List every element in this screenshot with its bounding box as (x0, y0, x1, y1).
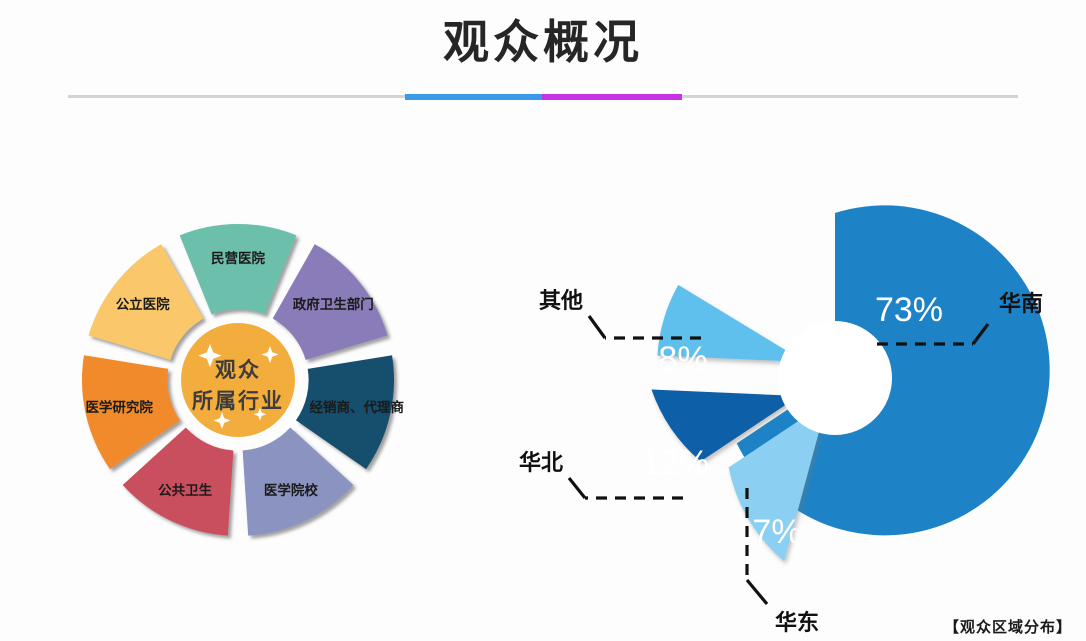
region-value-huabei: 12% (641, 444, 709, 482)
industry-sector-2-label: 经销商、代理商 (310, 399, 405, 416)
divider-accent-blue (405, 94, 542, 100)
industry-sector-0-shape[interactable] (180, 224, 297, 315)
industry-center-line1: 观众 (215, 358, 261, 382)
region-label-huadong: 华东 (775, 610, 819, 636)
region-donut-chart[interactable]: 73% 12% 8% 7% 华南 华北 其他 华东 (505, 148, 1081, 641)
industry-donut-chart[interactable]: 民营医院 政府卫生部门 经销商、代理商 医学院校 公共卫生 医学研究院 公立医院… (8, 150, 468, 610)
region-label-huanan: 华南 (999, 291, 1043, 317)
title-divider (68, 94, 1018, 99)
industry-sector-3-label: 医学院校 (264, 482, 318, 499)
industry-center-line2: 所属行业 (192, 389, 284, 413)
region-donut-hole (778, 321, 892, 435)
region-leader-huabei-tick (569, 478, 585, 498)
region-value-huadong: 7% (752, 513, 801, 551)
divider-accent-magenta (542, 94, 682, 100)
region-value-huanan: 73% (875, 291, 943, 329)
industry-sector-0[interactable]: 民营医院 (180, 224, 297, 315)
industry-sector-0-label: 民营医院 (211, 250, 265, 267)
industry-sector-6-label: 公立医院 (116, 296, 170, 313)
region-label-huabei: 华北 (519, 450, 563, 476)
region-value-qita: 8% (658, 340, 707, 378)
page-title: 观众概况 (0, 6, 1086, 72)
region-leader-qita-tick (589, 316, 605, 338)
region-chart-caption: 【观众区域分布】 (944, 616, 1072, 637)
industry-sector-5-label: 医学研究院 (85, 399, 153, 416)
region-leader-huadong-tick (747, 580, 767, 604)
industry-center-hub: 观众 所属行业 (181, 323, 295, 437)
industry-sector-1-label: 政府卫生部门 (293, 296, 374, 313)
industry-sector-4-label: 公共卫生 (158, 482, 212, 499)
industry-sector-6[interactable]: 公立医院 (89, 244, 204, 360)
industry-sector-1[interactable]: 政府卫生部门 (273, 244, 388, 360)
region-label-qita: 其他 (539, 289, 583, 314)
